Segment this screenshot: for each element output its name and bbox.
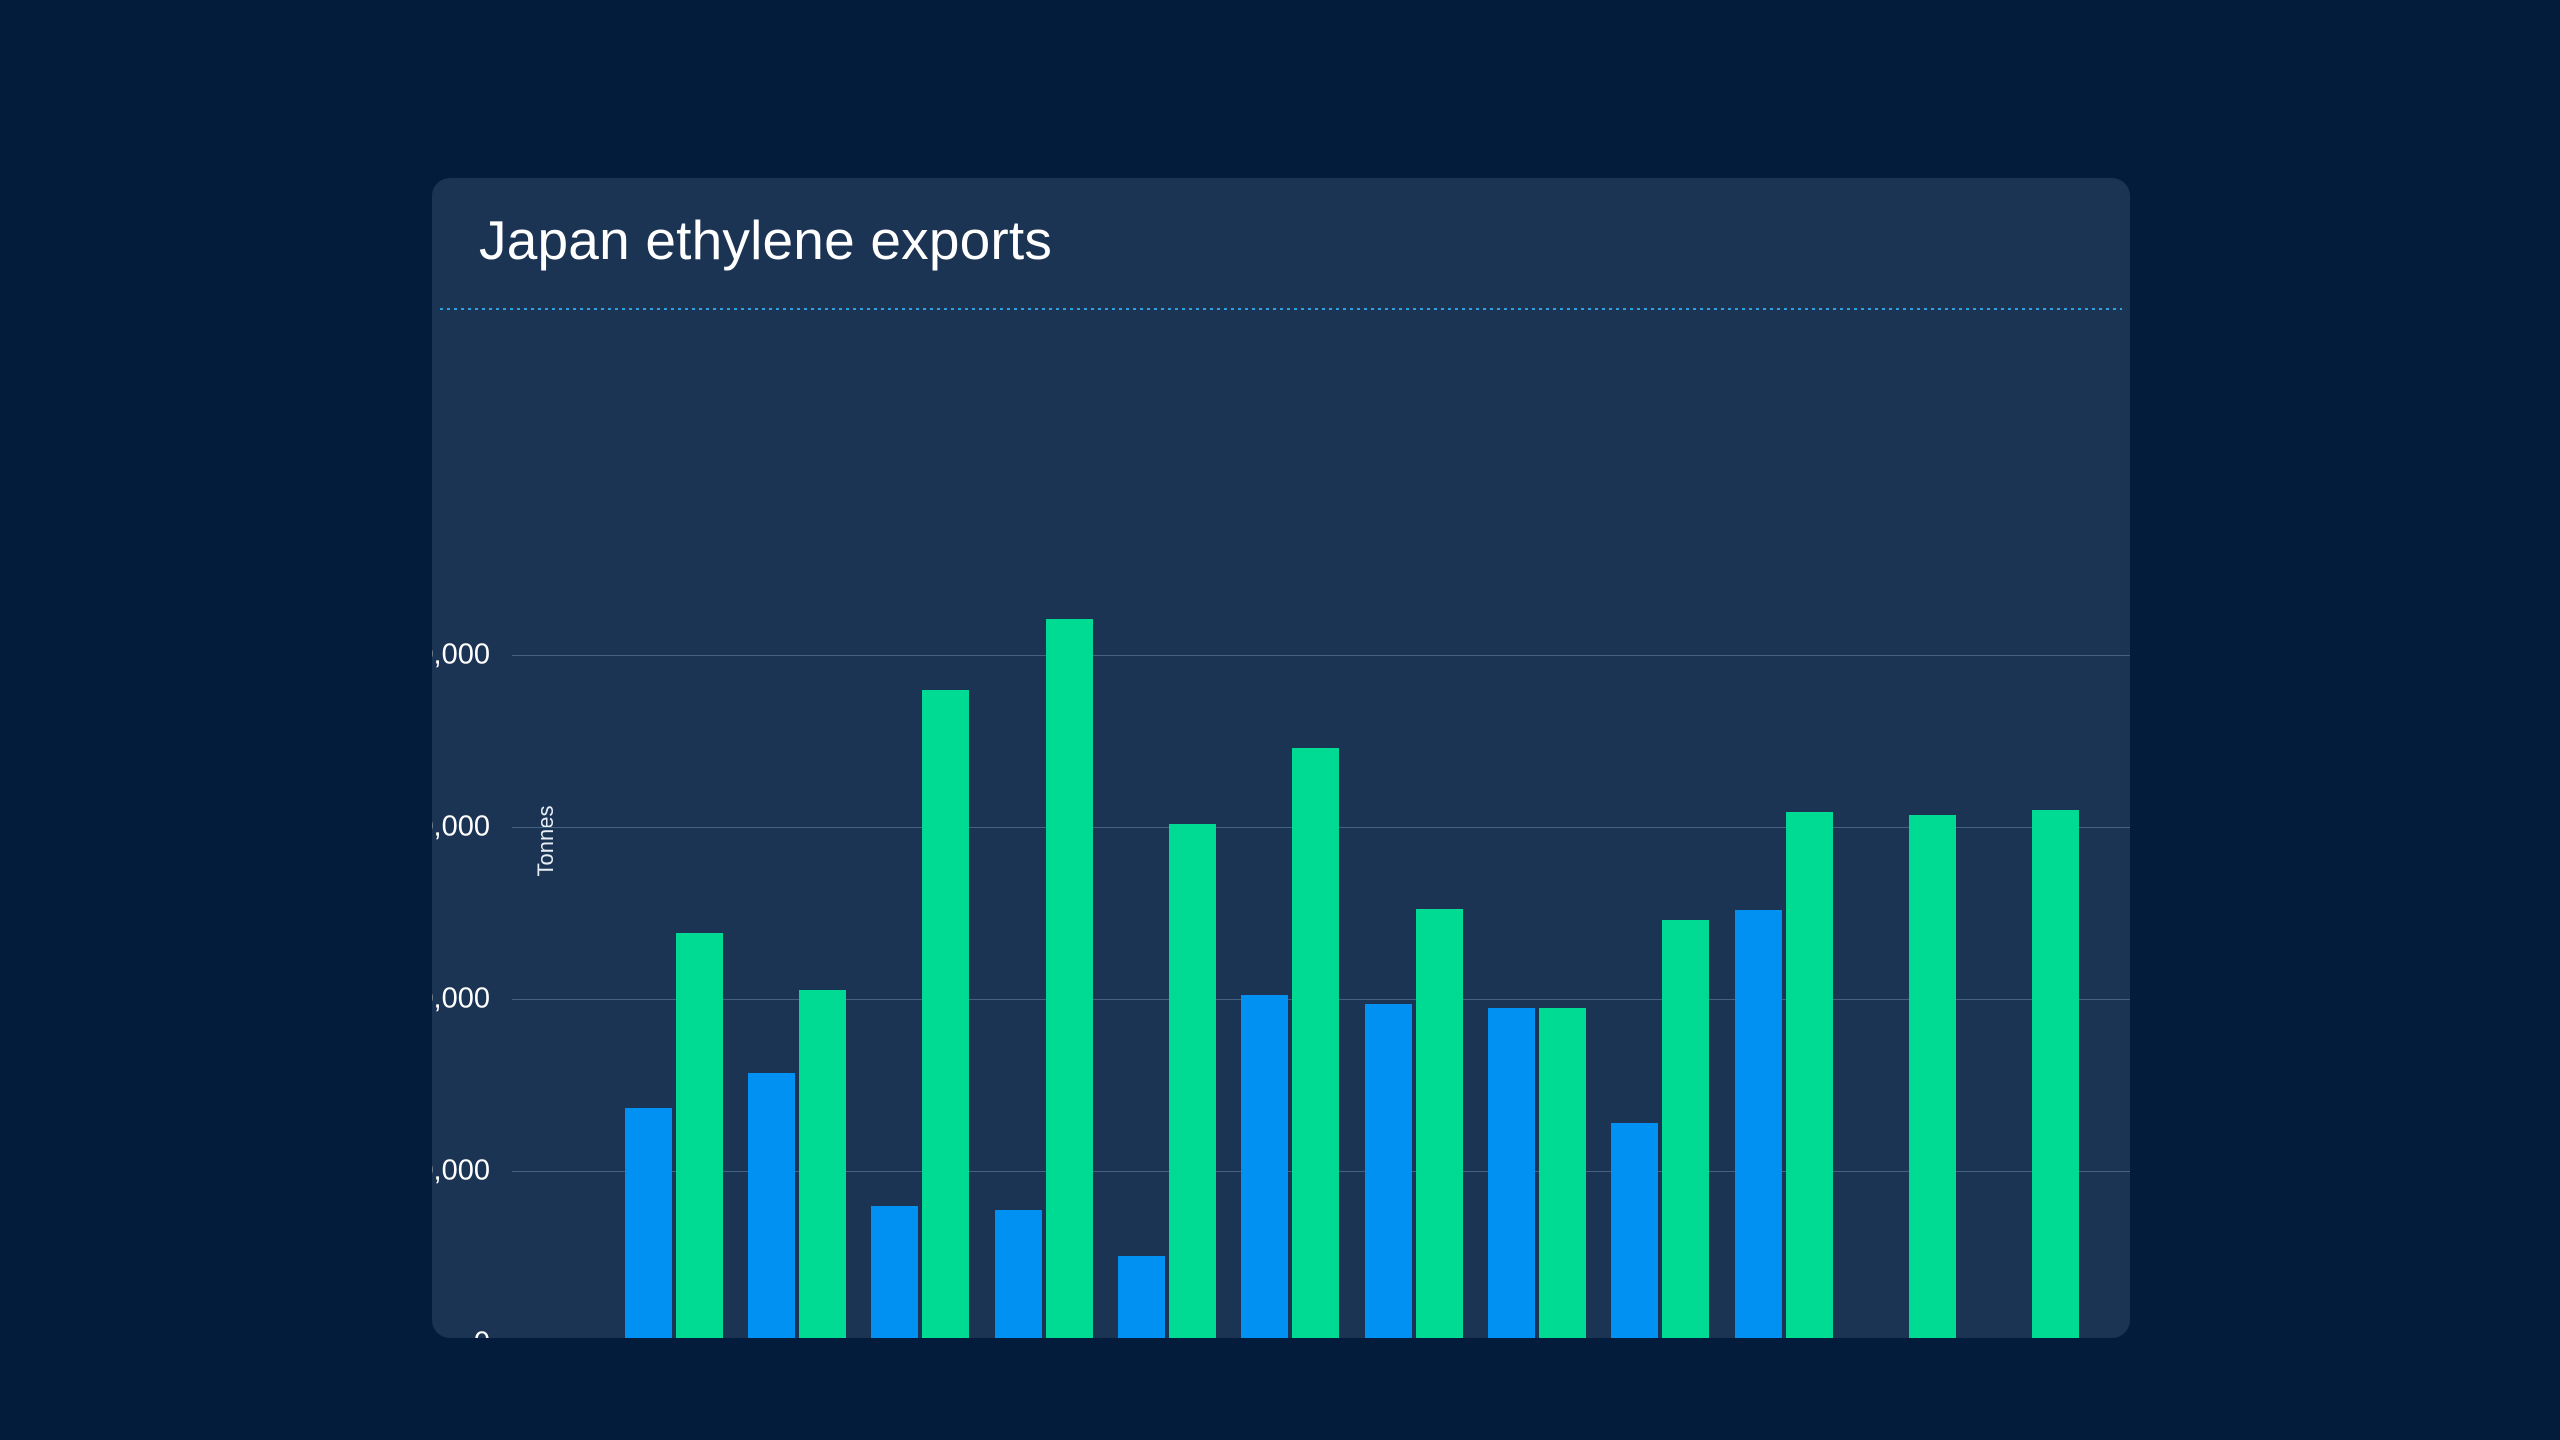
bar-oct-2022[interactable]	[1735, 910, 1782, 1338]
bar-group-may	[1105, 308, 1228, 1338]
screenshot-root: Japan ethylene exports Tonnes 020,00040,…	[0, 0, 2560, 1440]
bar-feb-2021[interactable]	[799, 990, 846, 1338]
bar-group-sept	[1599, 308, 1722, 1338]
bar-mar-2021[interactable]	[922, 690, 969, 1338]
bar-june-2022[interactable]	[1241, 995, 1288, 1338]
card-header: Japan ethylene exports	[432, 178, 2130, 308]
plot-area: Tonnes 020,00040,00060,00080,000 JanFebM…	[432, 308, 2130, 1338]
bar-may-2021[interactable]	[1169, 824, 1216, 1338]
bar-group-apr	[982, 308, 1105, 1338]
bar-group-nov	[1845, 308, 1968, 1338]
bar-apr-2022[interactable]	[995, 1210, 1042, 1338]
bar-group-oct	[1722, 308, 1845, 1338]
bar-jul-2022[interactable]	[1365, 1004, 1412, 1338]
bar-group-jul	[1352, 308, 1475, 1338]
bar-dec-2021[interactable]	[2032, 810, 2079, 1338]
bar-apr-2021[interactable]	[1046, 619, 1093, 1338]
bar-group-dec	[1969, 308, 2092, 1338]
bar-june-2021[interactable]	[1292, 748, 1339, 1338]
bar-nov-2021[interactable]	[1909, 815, 1956, 1338]
bar-may-2022[interactable]	[1118, 1256, 1165, 1338]
bar-mar-2022[interactable]	[871, 1206, 918, 1338]
bar-group-aug	[1475, 308, 1598, 1338]
bar-group-june	[1229, 308, 1352, 1338]
bar-group-jan	[612, 308, 735, 1338]
bar-feb-2022[interactable]	[748, 1073, 795, 1338]
bar-group-feb	[735, 308, 858, 1338]
bar-group-mar	[859, 308, 982, 1338]
bar-oct-2021[interactable]	[1786, 812, 1833, 1338]
bars-layer	[432, 308, 2130, 1338]
page-title: Japan ethylene exports	[479, 208, 1052, 272]
chart-card: Japan ethylene exports Tonnes 020,00040,…	[432, 178, 2130, 1338]
bar-jul-2021[interactable]	[1416, 909, 1463, 1338]
bar-aug-2022[interactable]	[1488, 1008, 1535, 1338]
bar-sept-2021[interactable]	[1662, 920, 1709, 1338]
bar-aug-2021[interactable]	[1539, 1008, 1586, 1338]
bar-jan-2022[interactable]	[625, 1108, 672, 1338]
bar-jan-2021[interactable]	[676, 933, 723, 1338]
bar-sept-2022[interactable]	[1611, 1123, 1658, 1338]
